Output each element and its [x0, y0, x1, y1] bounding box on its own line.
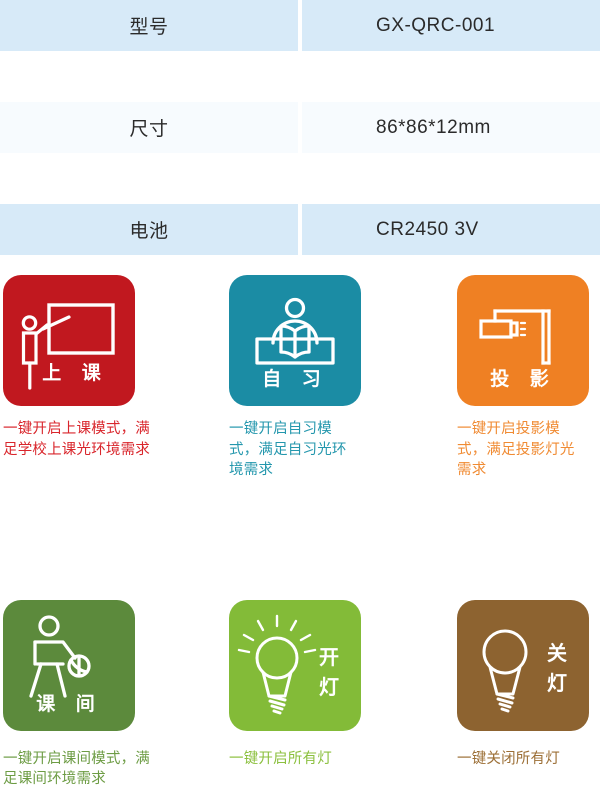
bulb-on-icon: 开 灯 — [229, 600, 361, 731]
tile-lights-off[interactable]: 关 灯 — [457, 600, 589, 731]
person-reading-desk-icon: 自 习 — [229, 275, 361, 406]
tile-row-1: 上 课 一键开启上课模式，满足学校上课光环境需求 自 习 — [0, 275, 600, 481]
row-divider — [0, 153, 600, 204]
tile-caption-self-study-mode: 一键开启自习模式，满足自习光环境需求 — [229, 419, 357, 481]
tile-projection-mode[interactable]: 投 影 — [457, 275, 589, 406]
teacher-blackboard-icon: 上 课 — [3, 275, 135, 406]
tile-label-line1: 开 — [319, 645, 339, 669]
mode-tile-grid: 上 课 一键开启上课模式，满足学校上课光环境需求 自 习 — [0, 275, 600, 790]
tile-label-line1: 关 — [547, 641, 567, 665]
spec-label-text: 尺寸 — [0, 104, 298, 151]
table-row: 尺寸 86*86*12mm — [0, 102, 600, 153]
tile-cell-lights-off: 关 灯 一键关闭所有灯 — [400, 600, 600, 790]
tile-lights-on[interactable]: 开 灯 — [229, 600, 361, 731]
basketball-player-icon: 课 间 — [3, 600, 135, 731]
tile-label-line2: 灯 — [547, 671, 567, 695]
tile-self-study-mode[interactable]: 自 习 — [229, 275, 361, 406]
specification-table: 型号 GX-QRC-001 尺寸 86*86*12mm 电池 CR2450 3 — [0, 0, 600, 255]
spec-value-cell: CR2450 3V — [302, 204, 600, 255]
tile-caption-class-mode: 一键开启上课模式，满足学校上课光环境需求 — [3, 419, 153, 460]
spec-value-cell: 86*86*12mm — [302, 102, 600, 153]
projector-screen-icon: 投 影 — [457, 275, 589, 406]
table-row: 电池 CR2450 3V — [0, 204, 600, 255]
row-divider — [0, 51, 600, 102]
spec-label-cell: 尺寸 — [0, 102, 298, 153]
spec-label-cell: 型号 — [0, 0, 298, 51]
spec-label-cell: 电池 — [0, 204, 298, 255]
tile-caption-lights-on: 一键开启所有灯 — [229, 749, 357, 770]
tile-caption-break-mode: 一键开启课间模式，满足课间环境需求 — [3, 749, 153, 790]
tile-label: 课 间 — [36, 693, 102, 715]
tile-label: 自 习 — [262, 367, 328, 390]
tile-cell-break-mode: 课 间 一键开启课间模式，满足课间环境需求 — [0, 600, 200, 790]
tile-cell-class-mode: 上 课 一键开启上课模式，满足学校上课光环境需求 — [0, 275, 200, 481]
tile-cell-lights-on: 开 灯 一键开启所有灯 — [200, 600, 400, 790]
spec-value-text: CR2450 3V — [302, 206, 600, 253]
tile-label: 投 影 — [490, 367, 556, 390]
table-row: 型号 GX-QRC-001 — [0, 0, 600, 51]
tile-label-line2: 灯 — [319, 675, 339, 699]
bulb-off-icon: 关 灯 — [457, 600, 589, 731]
spec-value-text: 86*86*12mm — [302, 104, 600, 151]
spec-label-text: 型号 — [0, 2, 298, 49]
spec-label-text: 电池 — [0, 206, 298, 253]
spec-value-cell: GX-QRC-001 — [302, 0, 600, 51]
tile-cell-projection-mode: 投 影 一键开启投影模式，满足投影灯光需求 — [400, 275, 600, 481]
tile-cell-self-study-mode: 自 习 一键开启自习模式，满足自习光环境需求 — [200, 275, 400, 481]
tile-caption-lights-off: 一键关闭所有灯 — [457, 749, 585, 770]
tile-label: 上 课 — [42, 362, 108, 384]
tile-caption-projection-mode: 一键开启投影模式，满足投影灯光需求 — [457, 419, 585, 481]
tile-class-mode[interactable]: 上 课 — [3, 275, 135, 406]
tile-break-mode[interactable]: 课 间 — [3, 600, 135, 731]
spec-value-text: GX-QRC-001 — [302, 2, 600, 49]
tile-row-2: 课 间 一键开启课间模式，满足课间环境需求 — [0, 600, 600, 790]
